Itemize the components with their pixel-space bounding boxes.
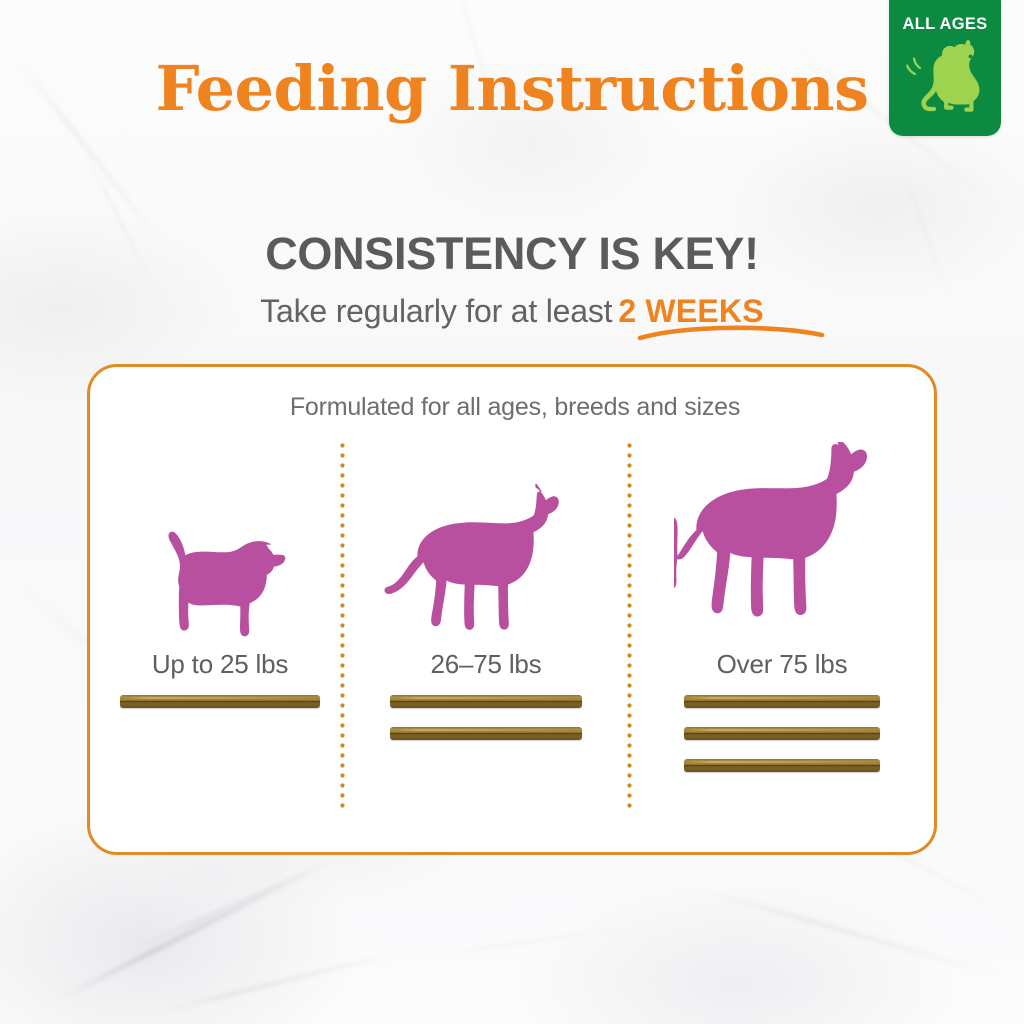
treat-stack-small xyxy=(100,695,340,727)
medium-dog-icon xyxy=(382,484,590,642)
feeding-chart-card: Formulated for all ages, breeds and size… xyxy=(87,364,937,855)
treat-stick xyxy=(684,727,880,740)
subline-prefix: Take regularly for at least xyxy=(260,293,612,329)
feeding-column-medium: 26–75 lbs xyxy=(345,407,627,827)
underline-swoosh-icon xyxy=(636,322,826,344)
all-ages-badge: ALL AGES xyxy=(889,0,1001,136)
feeding-column-large: Over 75 lbs xyxy=(632,407,932,827)
marble-vein xyxy=(153,949,406,1016)
treat-stick xyxy=(390,695,582,708)
treat-stick xyxy=(390,727,582,740)
headline: CONSISTENCY IS KEY! xyxy=(0,228,1024,280)
weight-label-small: Up to 25 lbs xyxy=(100,649,340,680)
sitting-dog-icon xyxy=(903,38,989,116)
small-dog-icon xyxy=(151,524,289,642)
large-dog-icon xyxy=(674,442,890,642)
infographic-canvas: Feeding Instructions ALL AGES CONSISTENC… xyxy=(0,0,1024,1024)
medium-dog-illustration xyxy=(345,484,627,642)
treat-stick xyxy=(684,695,880,708)
large-dog-illustration xyxy=(632,442,932,642)
feeding-column-small: Up to 25 lbs xyxy=(100,407,340,827)
subline: Take regularly for at least2 WEEKS xyxy=(0,293,1024,330)
marble-vein xyxy=(129,860,331,952)
treat-stick xyxy=(684,759,880,772)
page-title: Feeding Instructions xyxy=(0,58,1024,120)
all-ages-badge-label: ALL AGES xyxy=(889,15,1001,34)
weight-label-medium: 26–75 lbs xyxy=(345,649,627,680)
marble-vein xyxy=(431,926,629,957)
treat-stick xyxy=(120,695,320,708)
weight-label-large: Over 75 lbs xyxy=(632,649,932,680)
marble-vein xyxy=(696,886,1005,979)
treat-stack-medium xyxy=(345,695,627,759)
small-dog-illustration xyxy=(100,524,340,642)
marble-vein xyxy=(55,862,325,1003)
treat-stack-large xyxy=(632,695,932,791)
